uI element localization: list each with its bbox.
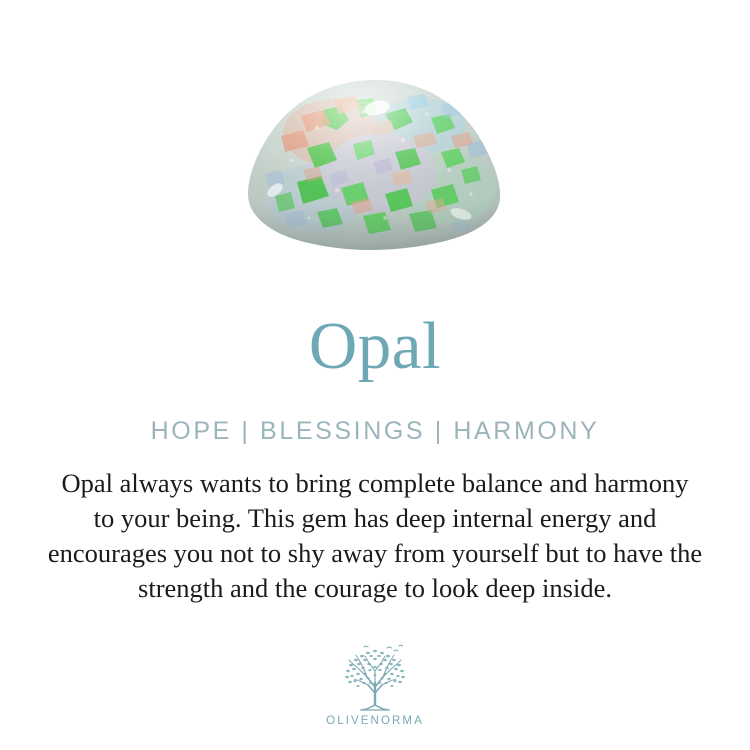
opal-cabochon-image: [245, 78, 505, 253]
description-line-4: strength and the courage to look deep in…: [28, 571, 722, 606]
description-line-2: to your being. This gem has deep interna…: [28, 501, 722, 536]
brand-logo: OLIVENORMA: [0, 643, 750, 727]
opal-info-card: Opal HOPE | BLESSINGS | HARMONY Opal alw…: [0, 0, 750, 750]
gem-description: Opal always wants to bring complete bala…: [28, 466, 722, 606]
gem-image-container: [0, 78, 750, 278]
gem-title: Opal: [0, 306, 750, 386]
description-line-1: Opal always wants to bring complete bala…: [28, 466, 722, 501]
gem-body: [245, 78, 505, 253]
birds-icon: [364, 645, 403, 651]
description-line-3: encourages you not to shy away from your…: [28, 536, 722, 571]
olive-tree-icon: [337, 643, 413, 713]
gem-keywords: HOPE | BLESSINGS | HARMONY: [0, 415, 750, 447]
brand-wordmark: OLIVENORMA: [326, 715, 424, 727]
